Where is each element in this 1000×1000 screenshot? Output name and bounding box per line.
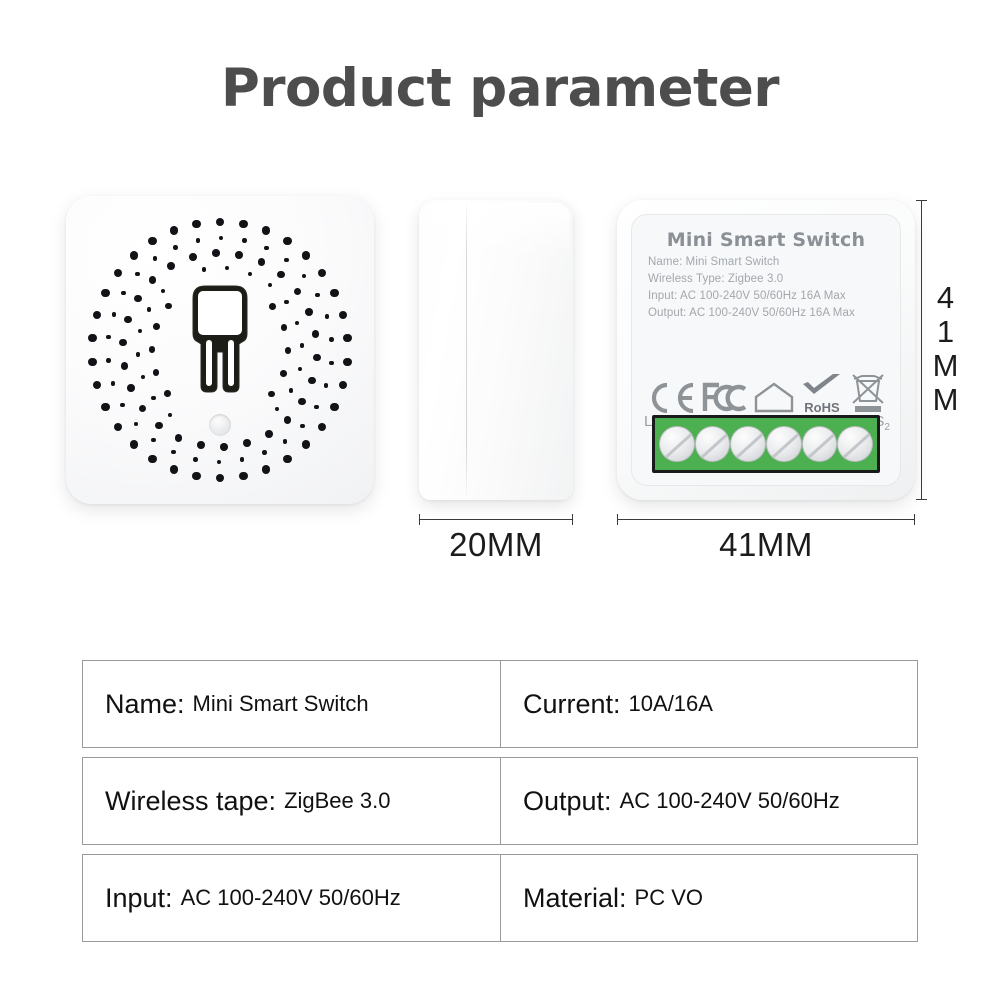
vent-hole <box>329 337 334 342</box>
vent-hole <box>269 303 276 310</box>
vent-hole <box>219 236 224 241</box>
vent-hole <box>262 465 271 474</box>
vent-hole <box>298 398 306 406</box>
vent-hole <box>165 303 172 310</box>
terminal-screw <box>766 426 802 462</box>
product-parameter-page: Product parameter Mini Smart Switch Name… <box>0 0 1000 1000</box>
vent-hole <box>153 256 158 261</box>
rohs-check-icon <box>799 373 845 397</box>
vent-hole <box>225 266 229 270</box>
vent-hole <box>197 441 205 449</box>
spec-cell-wireless-tape: Wireless tape: ZigBee 3.0 <box>83 758 500 844</box>
vent-hole <box>149 276 157 284</box>
vent-hole <box>262 450 267 455</box>
dimension-label-width: 41MM <box>617 526 915 564</box>
vent-hole <box>114 423 123 432</box>
vent-hole <box>284 416 292 424</box>
vent-hole <box>130 440 139 449</box>
vent-hole <box>262 226 271 235</box>
vent-hole <box>161 289 165 293</box>
vent-hole <box>289 388 293 392</box>
vent-hole <box>239 220 248 229</box>
vent-hole <box>168 413 172 417</box>
vent-hole <box>258 258 266 266</box>
vent-hole <box>268 391 275 398</box>
vent-hole <box>343 358 352 367</box>
vent-hole <box>283 237 292 246</box>
vent-hole <box>114 269 123 278</box>
switch-label-face: Mini Smart Switch Name: Mini Smart Switc… <box>631 214 901 486</box>
vent-hole <box>164 390 171 397</box>
vent-hole <box>275 407 279 411</box>
terminal-screw <box>695 426 731 462</box>
vent-hole <box>240 457 245 462</box>
house-mark-icon <box>752 381 796 415</box>
rohs-mark: RoHS <box>799 373 845 415</box>
spec-value: Mini Smart Switch <box>193 691 369 717</box>
vent-hole <box>138 329 142 333</box>
spec-label: Input: <box>105 883 173 914</box>
vent-hole <box>325 314 330 319</box>
vent-hole <box>216 474 225 483</box>
vent-hole <box>264 246 269 251</box>
vent-hole <box>193 457 198 462</box>
vent-hole <box>265 430 273 438</box>
green-terminal-block <box>652 415 880 473</box>
vent-hole <box>119 339 127 347</box>
vent-hole <box>329 361 334 366</box>
vent-hole <box>124 316 132 324</box>
vent-hole <box>170 465 179 474</box>
specification-table: Name: Mini Smart Switch Current: 10A/16A… <box>82 660 918 951</box>
vent-hole <box>242 238 247 243</box>
vent-hole <box>192 472 201 481</box>
spec-value: AC 100-240V 50/60Hz <box>620 788 840 814</box>
vent-hole <box>281 324 288 331</box>
vent-hole <box>283 439 288 444</box>
table-row: Name: Mini Smart Switch Current: 10A/16A <box>82 660 918 748</box>
spec-cell-material: Material: PC VO <box>500 855 917 941</box>
spec-label: Material: <box>523 883 627 914</box>
side-view-seam-line <box>466 204 467 496</box>
spec-cell-output: Output: AC 100-240V 50/60Hz <box>500 758 917 844</box>
vent-hole <box>127 384 135 392</box>
vent-hole <box>295 321 299 325</box>
vent-hole <box>173 245 178 250</box>
side-view-gloss <box>422 203 570 261</box>
spec-value: PC VO <box>635 885 703 911</box>
switch-label-title: Mini Smart Switch <box>632 229 900 251</box>
vent-hole <box>167 262 175 270</box>
vent-hole <box>302 440 311 449</box>
vent-hole <box>175 434 183 442</box>
vent-hole <box>339 381 348 390</box>
vent-hole <box>135 272 140 277</box>
product-switch-body: Mini Smart Switch Name: Mini Smart Switc… <box>617 200 915 500</box>
dimension-label-height: 41MM <box>930 280 961 416</box>
ce-mark-icon <box>646 381 698 415</box>
vent-hole <box>285 347 292 354</box>
vent-hole <box>93 311 102 320</box>
vent-hole <box>134 295 142 303</box>
keyhole-cutout-icon <box>185 282 255 402</box>
vent-hole <box>277 271 285 279</box>
vent-hole <box>192 220 201 229</box>
terminal-screw <box>802 426 838 462</box>
vent-hole <box>300 343 304 347</box>
product-front-plate <box>66 196 374 504</box>
vent-hole <box>147 307 151 311</box>
certification-marks-row: RoHS <box>646 373 888 415</box>
vent-hole <box>330 289 339 298</box>
vent-hole <box>93 381 102 390</box>
vent-hole <box>171 450 176 455</box>
vent-hole <box>280 370 287 377</box>
vent-hole <box>139 405 147 413</box>
vent-hole <box>112 312 117 317</box>
table-row: Input: AC 100-240V 50/60Hz Material: PC … <box>82 854 918 942</box>
vent-hole <box>88 358 97 367</box>
vent-hole <box>216 218 225 227</box>
dimension-line-height <box>916 200 928 500</box>
vent-hole <box>106 335 111 340</box>
spec-cell-input: Input: AC 100-240V 50/60Hz <box>83 855 500 941</box>
vent-hole <box>202 267 206 271</box>
vent-hole <box>294 288 302 296</box>
spec-value: AC 100-240V 50/60Hz <box>181 885 401 911</box>
terminal-screw <box>730 426 766 462</box>
spec-value: ZigBee 3.0 <box>284 788 390 814</box>
spec-label: Name: <box>105 689 185 720</box>
spec-cell-current: Current: 10A/16A <box>500 661 917 747</box>
vent-hole <box>111 381 116 386</box>
vent-hole <box>88 334 97 343</box>
vent-hole <box>101 403 110 412</box>
fcc-mark-icon <box>701 381 749 415</box>
vent-hole <box>106 358 111 363</box>
spec-label: Current: <box>523 689 621 720</box>
vent-hole <box>149 346 156 353</box>
vent-hole <box>239 472 248 481</box>
vent-hole <box>305 308 313 316</box>
product-side-view <box>419 200 573 500</box>
vent-hole <box>151 438 156 443</box>
vent-hole <box>330 403 339 412</box>
vent-hole <box>189 253 197 261</box>
vent-hole <box>120 403 125 408</box>
vent-hole <box>248 272 252 276</box>
vent-hole <box>302 274 307 279</box>
vent-hole <box>155 422 163 430</box>
vent-hole <box>196 238 201 243</box>
vent-hole <box>220 443 228 451</box>
vent-hole <box>217 460 222 465</box>
product-showcase: Mini Smart Switch Name: Mini Smart Switc… <box>0 0 1000 620</box>
vent-hole <box>136 352 140 356</box>
vent-hole <box>170 226 179 235</box>
vent-hole <box>101 289 110 298</box>
vent-hole <box>284 258 289 263</box>
vent-hole <box>343 334 352 343</box>
vent-hole <box>283 455 292 464</box>
vent-hole <box>151 396 155 400</box>
switch-spec-wireless-type: Wireless Type: Zigbee 3.0 <box>648 273 900 285</box>
dimension-label-depth: 20MM <box>419 526 573 564</box>
spec-label: Wireless tape: <box>105 786 276 817</box>
table-row: Wireless tape: ZigBee 3.0 Output: AC 100… <box>82 757 918 845</box>
vent-hole <box>121 362 129 370</box>
vent-hole <box>300 424 305 429</box>
vent-hole <box>148 237 157 246</box>
plate-dimple <box>209 414 231 436</box>
vent-hole <box>130 251 139 260</box>
spec-value: 10A/16A <box>629 691 713 717</box>
vent-hole <box>318 269 327 278</box>
vent-hole <box>235 251 243 259</box>
vent-hole <box>153 323 160 330</box>
vent-hole <box>121 291 126 296</box>
vent-hole <box>324 383 329 388</box>
terminal-screw <box>659 426 695 462</box>
vent-hole <box>312 330 320 338</box>
vent-hole <box>134 422 139 427</box>
vent-hole <box>148 455 157 464</box>
vent-hole <box>313 354 321 362</box>
vent-hole <box>212 249 220 257</box>
vent-hole <box>318 423 327 432</box>
vent-hole <box>308 377 316 385</box>
vent-hole <box>339 311 348 320</box>
vent-hole <box>284 300 288 304</box>
dimension-line-depth <box>419 514 573 526</box>
spec-cell-name: Name: Mini Smart Switch <box>83 661 500 747</box>
vent-hole <box>302 251 311 260</box>
switch-spec-output: Output: AC 100-240V 50/60Hz 16A Max <box>648 307 900 319</box>
vent-hole <box>243 439 251 447</box>
spec-label: Output: <box>523 786 612 817</box>
switch-spec-input: Input: AC 100-240V 50/60Hz 16A Max <box>648 290 900 302</box>
vent-hole <box>315 293 320 298</box>
weee-mark-icon <box>848 373 888 415</box>
vent-hole <box>141 375 145 379</box>
vent-hole <box>314 405 319 410</box>
vent-hole <box>298 367 302 371</box>
vent-hole <box>153 369 160 376</box>
switch-spec-name: Name: Mini Smart Switch <box>648 256 900 268</box>
vent-hole <box>268 283 272 287</box>
terminal-screw <box>837 426 873 462</box>
dimension-line-width <box>617 514 915 526</box>
